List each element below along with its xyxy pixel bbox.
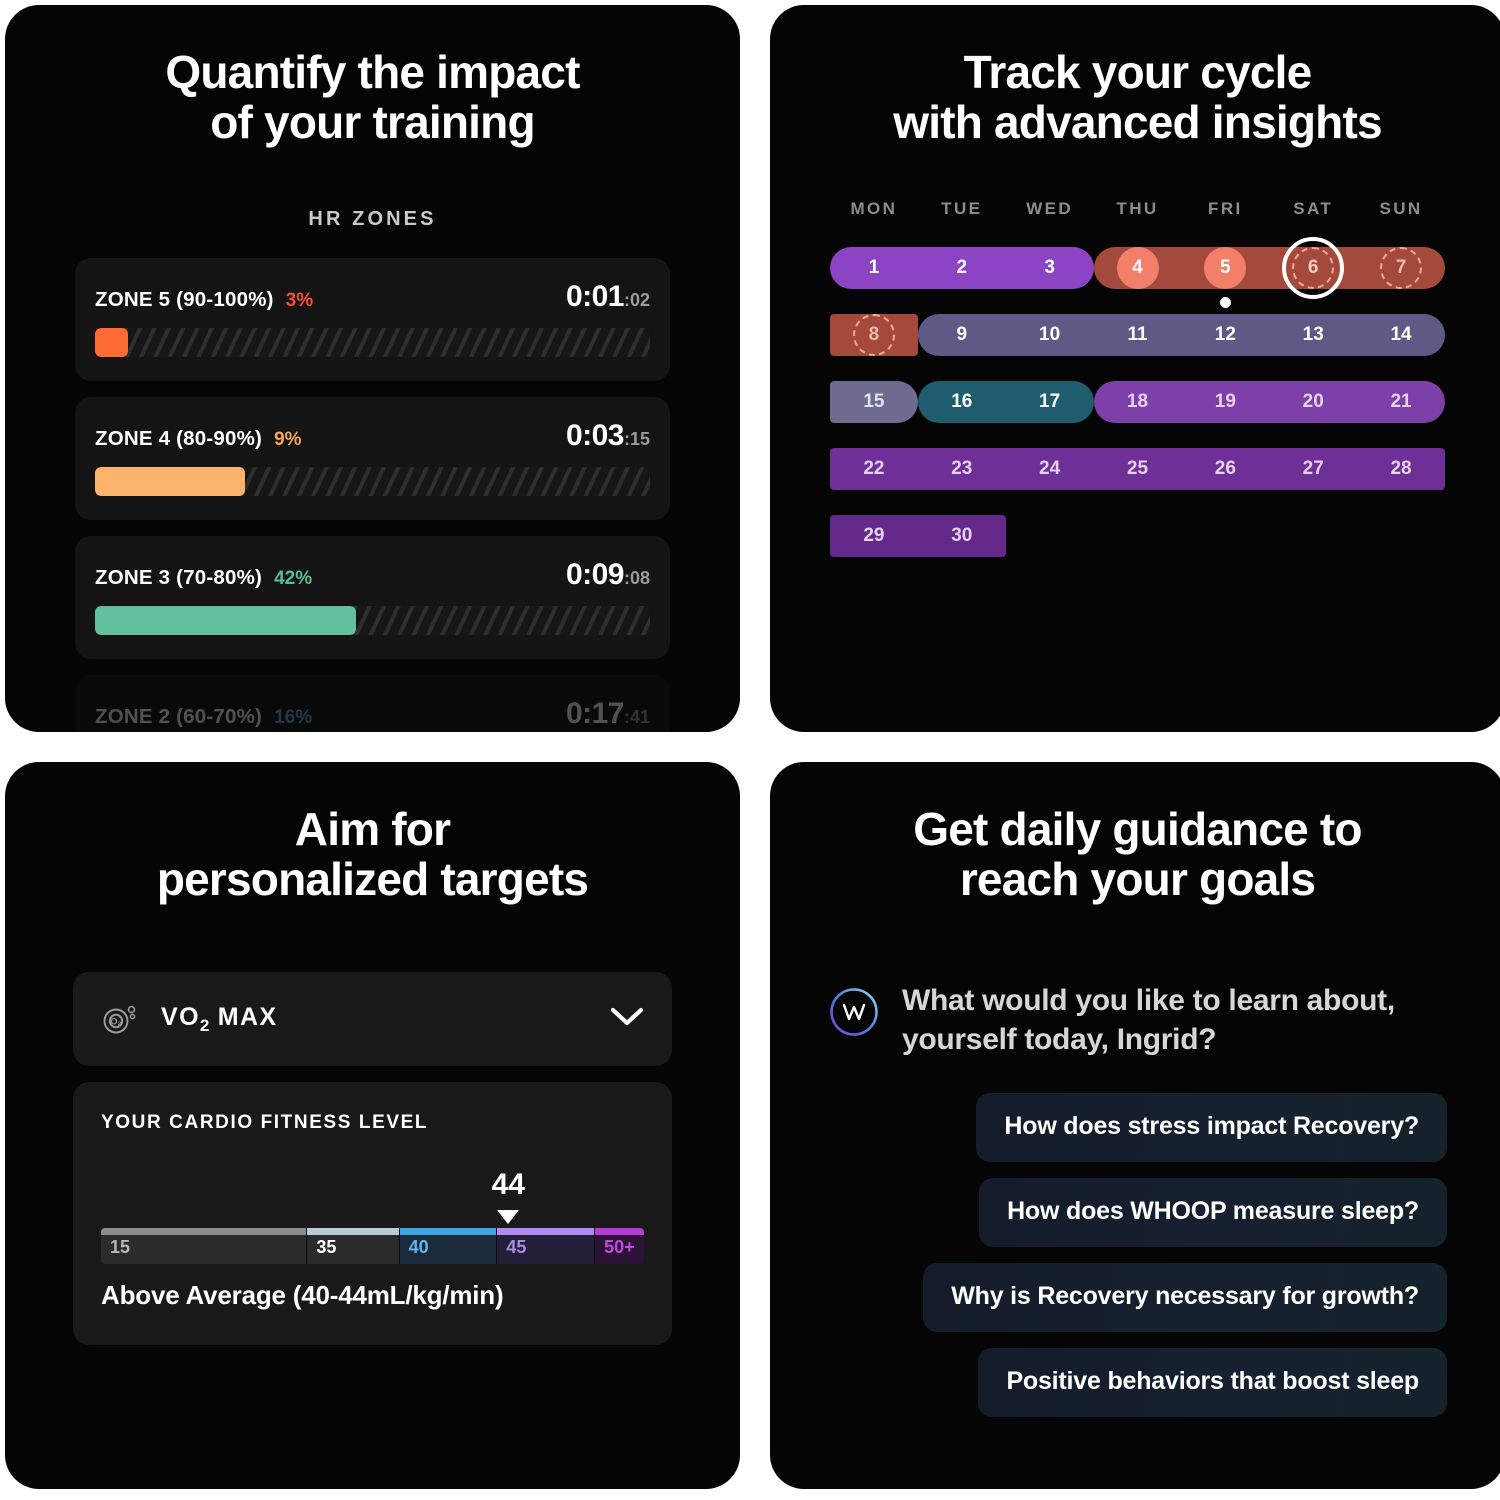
calendar-day-cell[interactable]: 22 <box>830 448 918 490</box>
hr-zone-card[interactable]: ZONE 5 (90-100%)3%0:01:02 <box>75 258 670 381</box>
hr-zone-card[interactable]: ZONE 3 (70-80%)42%0:09:08 <box>75 536 670 659</box>
vo2-scale-segment: 40 <box>400 1228 498 1264</box>
calendar-day-cell[interactable]: 20 <box>1269 381 1357 423</box>
hr-zone-bar-fill <box>95 467 245 496</box>
calendar-day-cell[interactable]: 29 <box>830 515 918 557</box>
coach-suggestion-chip[interactable]: Positive behaviors that boost sleep <box>978 1348 1447 1417</box>
hr-zone-name: ZONE 4 (80-90%) <box>95 427 262 451</box>
hr-zone-card[interactable]: ZONE 2 (60-70%)16%0:17:41 <box>75 675 670 732</box>
panel-cycle-title: Track your cycle with advanced insights <box>770 5 1500 147</box>
panel-targets-title: Aim for personalized targets <box>5 762 740 904</box>
calendar-week-row: 1234567 <box>830 247 1445 289</box>
calendar-event-dot <box>1220 297 1231 308</box>
coach-section: What would you like to learn about, your… <box>770 982 1500 1433</box>
hr-zone-bar <box>95 467 650 496</box>
calendar-day-cell[interactable]: 11 <box>1094 314 1182 356</box>
calendar-day-cell[interactable]: 23 <box>918 448 1006 490</box>
training-title-line1: Quantify the impact <box>165 46 579 98</box>
hr-zone-percent: 3% <box>286 290 313 312</box>
vo2-label-sub: 2 <box>200 1016 209 1035</box>
panel-grid: Quantify the impact of your training HR … <box>0 0 1500 1500</box>
calendar-day-cell[interactable]: 5 <box>1181 247 1269 289</box>
calendar-week-row: 2930 <box>830 515 1445 557</box>
calendar-today-ring <box>1282 237 1344 299</box>
calendar-body[interactable]: 1234567891011121314151617181920212223242… <box>830 247 1445 557</box>
hr-zone-percent: 9% <box>274 429 301 451</box>
vo2-section: O₂ VO2 MAX YOUR CARDIO FITNESS LEVEL <box>5 972 740 1345</box>
coach-question-row: What would you like to learn about, your… <box>828 982 1447 1059</box>
panel-coach: Get daily guidance to reach your goals <box>770 762 1500 1489</box>
calendar-weekday: FRI <box>1181 199 1269 219</box>
calendar-day-cell[interactable]: 3 <box>1006 247 1094 289</box>
calendar-day-cell[interactable]: 14 <box>1357 314 1445 356</box>
calendar-day-cell[interactable]: 19 <box>1181 381 1269 423</box>
cardio-fitness-card: YOUR CARDIO FITNESS LEVEL 44 1535404550+… <box>73 1082 672 1345</box>
o2-icon: O₂ <box>101 1000 139 1038</box>
hr-zone-time: 0:01:02 <box>566 280 650 314</box>
panel-cycle: Track your cycle with advanced insights … <box>770 5 1500 732</box>
hr-zone-bar <box>95 328 650 357</box>
chevron-down-icon[interactable] <box>610 1006 644 1033</box>
calendar-weekday: TUE <box>918 199 1006 219</box>
vo2-scale-segment-cap <box>497 1228 594 1235</box>
vo2-scale-segment: 15 <box>101 1228 307 1264</box>
vo2-scale-segment-cap <box>307 1228 398 1235</box>
coach-suggestion-list[interactable]: How does stress impact Recovery?How does… <box>828 1093 1447 1433</box>
calendar-day-cell[interactable]: 30 <box>918 515 1006 557</box>
calendar-day-cell[interactable]: 25 <box>1094 448 1182 490</box>
calendar-weekday: SUN <box>1357 199 1445 219</box>
coach-suggestion-chip[interactable]: Why is Recovery necessary for growth? <box>923 1263 1447 1332</box>
calendar-day-cell[interactable]: 27 <box>1269 448 1357 490</box>
calendar-weekday-header: MONTUEWEDTHUFRISATSUN <box>830 199 1445 219</box>
hr-zone-name: ZONE 5 (90-100%) <box>95 288 274 312</box>
calendar-day-cell[interactable]: 8 <box>830 314 918 356</box>
cardio-fitness-note: Above Average (40-44mL/kg/min) <box>101 1280 644 1311</box>
calendar-day-cell[interactable]: 15 <box>830 381 918 423</box>
calendar-day-cell[interactable]: 16 <box>918 381 1006 423</box>
calendar-day-cell[interactable]: 17 <box>1006 381 1094 423</box>
hr-zone-time: 0:09:08 <box>566 558 650 592</box>
coach-suggestion-chip[interactable]: How does WHOOP measure sleep? <box>979 1178 1447 1247</box>
vo2-scale-bar: 1535404550+ <box>101 1228 644 1264</box>
calendar-weekday: MON <box>830 199 918 219</box>
vo2-scale-segment-label: 35 <box>316 1237 336 1258</box>
vo2-scale-segment: 50+ <box>595 1228 644 1264</box>
hr-zone-bar-fill <box>95 328 128 357</box>
coach-question: What would you like to learn about, your… <box>902 982 1447 1059</box>
vo2-marker-caret <box>497 1210 519 1224</box>
calendar-weekday: THU <box>1094 199 1182 219</box>
hr-zone-name: ZONE 2 (60-70%) <box>95 705 262 729</box>
vo2-marker-value: 44 <box>492 1168 525 1202</box>
svg-text:O₂: O₂ <box>111 1017 122 1027</box>
vo2-max-label: VO2 MAX <box>161 1003 278 1036</box>
vo2-scale-segment-cap <box>101 1228 306 1235</box>
hr-zone-card[interactable]: ZONE 4 (80-90%)9%0:03:15 <box>75 397 670 520</box>
vo2-scale-segment-label: 50+ <box>604 1237 635 1258</box>
hr-zones-label: HR ZONES <box>5 208 740 231</box>
panel-training: Quantify the impact of your training HR … <box>5 5 740 732</box>
hr-zone-time: 0:03:15 <box>566 419 650 453</box>
calendar-week-row: 15161718192021 <box>830 381 1445 423</box>
vo2-scale-segment-label: 40 <box>409 1237 429 1258</box>
vo2-label-rest: MAX <box>209 1003 277 1031</box>
hr-zone-name: ZONE 3 (70-80%) <box>95 566 262 590</box>
cardio-fitness-scale: 44 1535404550+ <box>101 1168 644 1264</box>
calendar-day-cell[interactable]: 4 <box>1094 247 1182 289</box>
calendar-week-row: 891011121314 <box>830 314 1445 356</box>
calendar-day-cell[interactable]: 10 <box>1006 314 1094 356</box>
training-title-line2: of your training <box>210 96 535 148</box>
calendar-weekday: SAT <box>1269 199 1357 219</box>
vo2-scale-segment: 35 <box>307 1228 399 1264</box>
panel-coach-title: Get daily guidance to reach your goals <box>770 762 1500 904</box>
hr-zone-percent: 42% <box>274 568 312 590</box>
calendar-day-cell[interactable]: 1 <box>830 247 918 289</box>
panel-training-title: Quantify the impact of your training <box>5 5 740 147</box>
calendar-day-cell[interactable]: 7 <box>1357 247 1445 289</box>
calendar-day-cell[interactable]: 26 <box>1181 448 1269 490</box>
vo2-scale-segment-cap <box>595 1228 644 1235</box>
calendar-day-cell[interactable]: 18 <box>1094 381 1182 423</box>
calendar-day-cell[interactable]: 13 <box>1269 314 1357 356</box>
coach-suggestion-chip[interactable]: How does stress impact Recovery? <box>976 1093 1447 1162</box>
calendar-day-cell[interactable]: 9 <box>918 314 1006 356</box>
calendar-day-cell[interactable]: 24 <box>1006 448 1094 490</box>
hr-zone-bar <box>95 606 650 635</box>
vo2-label-main: VO <box>161 1003 200 1031</box>
calendar-day-cell[interactable]: 2 <box>918 247 1006 289</box>
cycle-title-line1: Track your cycle <box>964 46 1312 98</box>
calendar-weekday: WED <box>1006 199 1094 219</box>
calendar-day-cell[interactable]: 21 <box>1357 381 1445 423</box>
whoop-logo-icon <box>828 986 880 1038</box>
coach-title-line1: Get daily guidance to <box>913 803 1361 855</box>
cycle-calendar[interactable]: MONTUEWEDTHUFRISATSUN 123456789101112131… <box>770 199 1500 557</box>
calendar-day-cell[interactable]: 12 <box>1181 314 1269 356</box>
vo2-scale-segment: 45 <box>497 1228 595 1264</box>
vo2-scale-segment-label: 15 <box>110 1237 130 1258</box>
coach-title-line2: reach your goals <box>960 853 1315 905</box>
cardio-fitness-label: YOUR CARDIO FITNESS LEVEL <box>101 1112 644 1134</box>
cycle-title-line2: with advanced insights <box>893 96 1382 148</box>
targets-title-line1: Aim for <box>295 803 450 855</box>
hr-zone-time: 0:17:41 <box>566 697 650 731</box>
vo2-max-selector[interactable]: O₂ VO2 MAX <box>73 972 672 1066</box>
vo2-scale-segment-cap <box>400 1228 497 1235</box>
calendar-week-row: 22232425262728 <box>830 448 1445 490</box>
calendar-day-cell[interactable]: 28 <box>1357 448 1445 490</box>
panel-targets: Aim for personalized targets O₂ VO2 MAX <box>5 762 740 1489</box>
vo2-scale-segment-label: 45 <box>506 1237 526 1258</box>
hr-zone-bar-fill <box>95 606 356 635</box>
hr-zone-percent: 16% <box>274 707 312 729</box>
targets-title-line2: personalized targets <box>157 853 588 905</box>
hr-zone-list: ZONE 5 (90-100%)3%0:01:02ZONE 4 (80-90%)… <box>5 258 740 732</box>
